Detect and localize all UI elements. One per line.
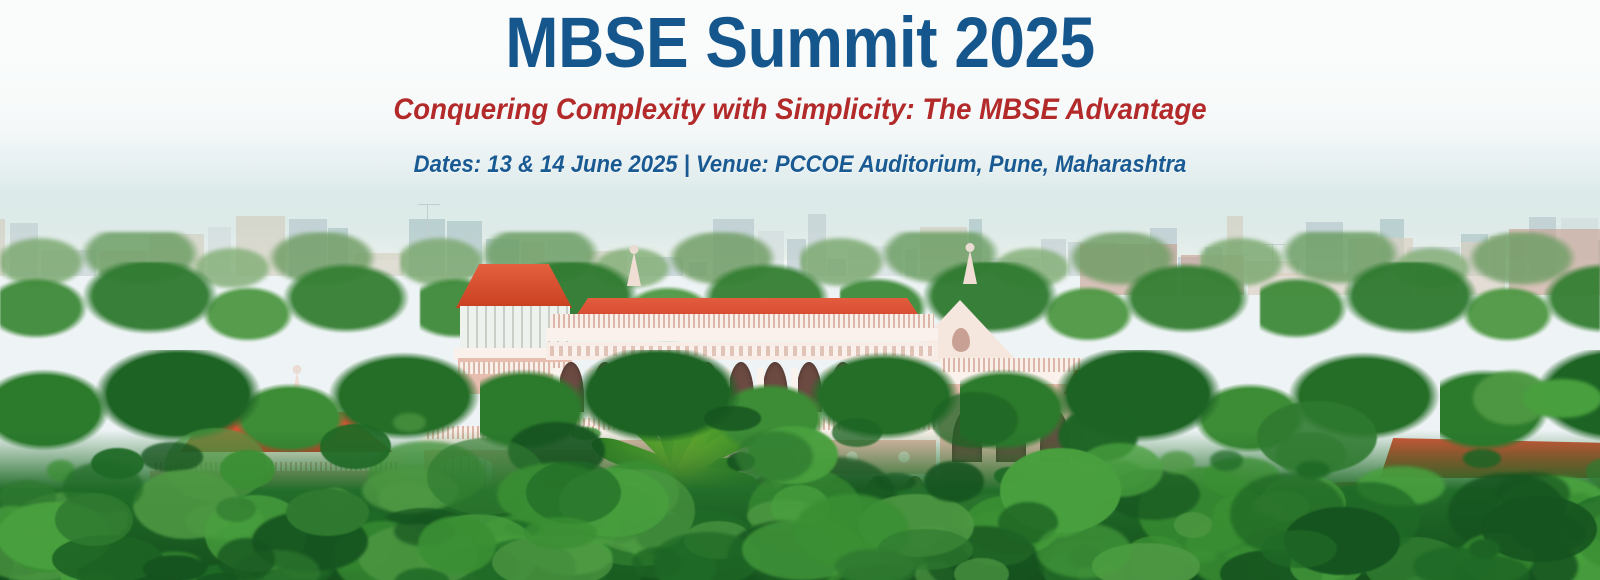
foliage-cluster xyxy=(924,461,984,502)
foliage-cluster xyxy=(1463,449,1500,468)
foliage-cluster xyxy=(220,450,275,489)
foliage-cluster xyxy=(141,442,204,471)
foliage-cluster xyxy=(1523,379,1600,418)
foliage-cluster xyxy=(1159,451,1195,474)
foliage-cluster xyxy=(526,461,621,524)
event-subtitle: Conquering Complexity with Simplicity: T… xyxy=(64,90,1536,130)
foliage-cluster xyxy=(736,431,813,482)
foliage-cluster xyxy=(878,529,973,570)
foliage-cluster xyxy=(1261,530,1336,568)
foliage-cluster xyxy=(286,489,369,535)
spire-finial xyxy=(966,243,975,252)
foliage-cluster xyxy=(1174,512,1212,538)
foliage-cluster xyxy=(418,516,496,573)
spire-cone xyxy=(963,250,977,284)
foliage-cluster xyxy=(632,547,683,579)
foliage-cluster xyxy=(1469,539,1501,559)
event-banner: MBSE Summit 2025 Conquering Complexity w… xyxy=(0,0,1600,580)
foliage-cluster xyxy=(217,538,276,580)
event-title: MBSE Summit 2025 xyxy=(80,4,1520,84)
foliage-cluster xyxy=(876,473,917,491)
spire-finial xyxy=(630,245,639,254)
foliage-cluster xyxy=(143,555,206,580)
foliage-cluster xyxy=(832,418,882,447)
foliage-cluster xyxy=(524,517,597,549)
left-pavilion-roof xyxy=(456,264,572,308)
foliage-cluster xyxy=(393,413,426,433)
foliage-cluster xyxy=(1036,523,1130,578)
foliage-cluster xyxy=(704,406,760,430)
foliage-cluster xyxy=(320,424,391,468)
event-dateline: Dates: 13 & 14 June 2025 | Venue: PCCOE … xyxy=(64,148,1536,182)
foliage-cluster xyxy=(1210,450,1243,471)
foliage-cluster xyxy=(1076,443,1163,497)
foliage-cluster xyxy=(931,392,1018,449)
central-spire xyxy=(624,252,644,300)
foliage-clusters xyxy=(0,330,1600,580)
foliage-cluster xyxy=(216,497,256,522)
spire-cone xyxy=(627,252,641,286)
banner-text-block: MBSE Summit 2025 Conquering Complexity w… xyxy=(0,0,1600,182)
right-spire xyxy=(960,250,980,298)
palace-roof-balustrade xyxy=(550,314,934,328)
foliage-cluster xyxy=(55,493,132,546)
foliage-cluster xyxy=(1586,458,1600,484)
